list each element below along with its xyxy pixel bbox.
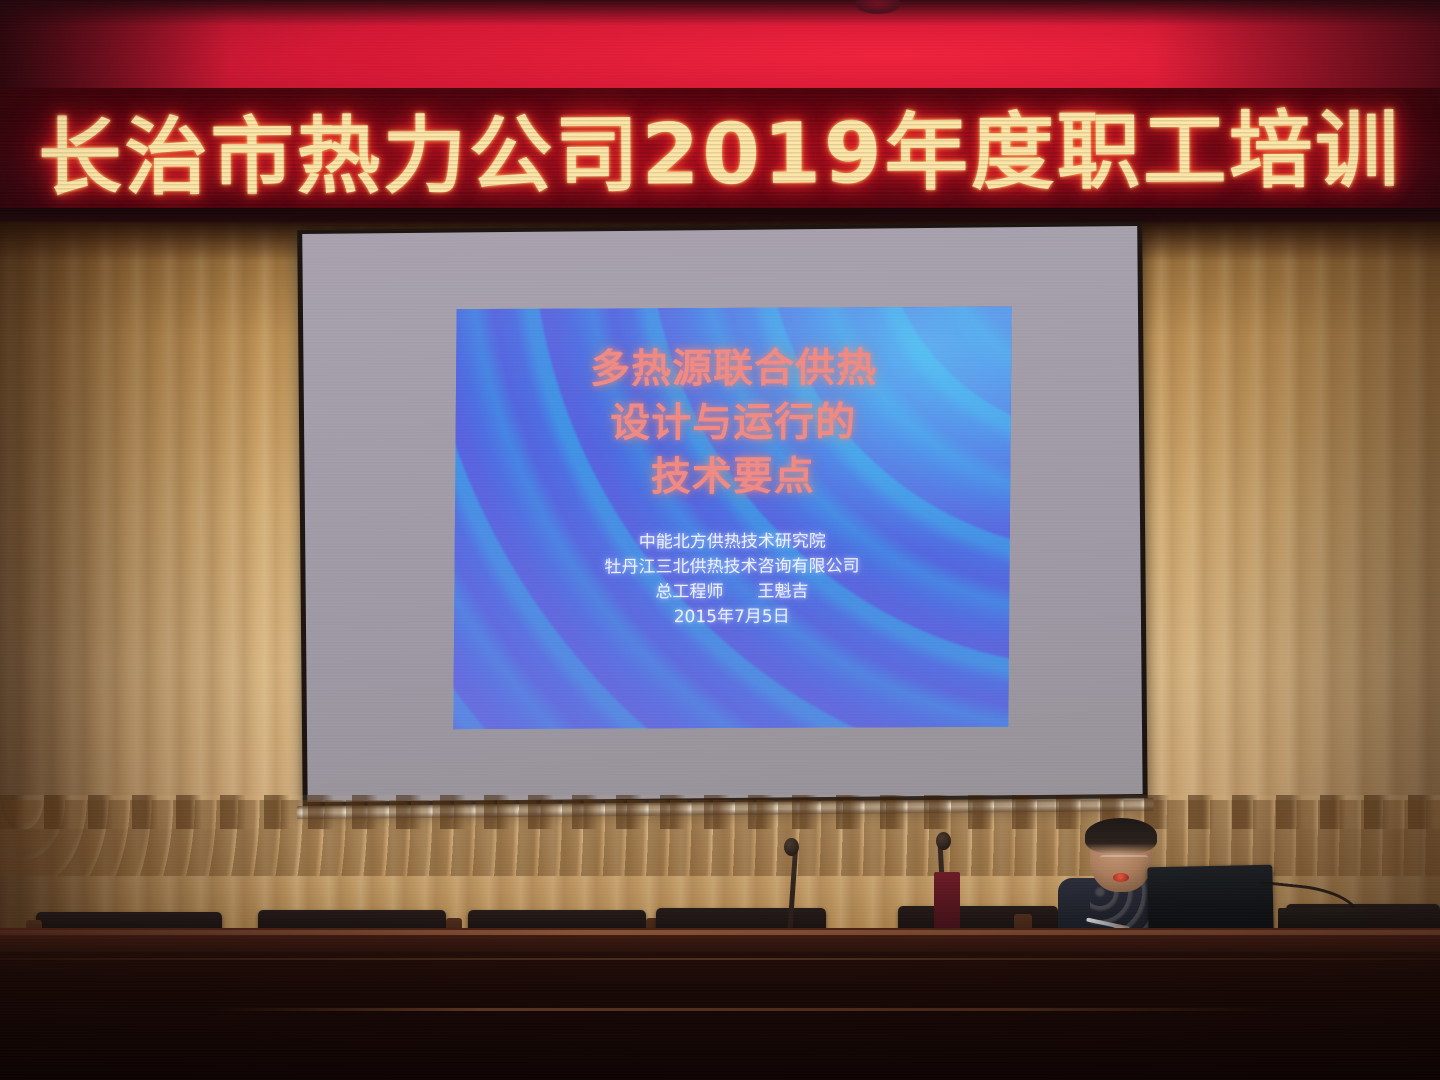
slide-date: 2015年7月5日 [454,604,1009,631]
projected-slide: 多热源联合供热 设计与运行的 技术要点 中能北方供热技术研究院 牡丹江三北供热技… [453,307,1011,729]
desk-name-plate [934,872,960,930]
ceiling-shadow [0,0,1440,26]
slide-title-line-1: 多热源联合供热 [456,341,1011,397]
slide-subtitle: 中能北方供热技术研究院 牡丹江三北供热技术咨询有限公司 总工程师王魁吉 2015… [454,529,1010,631]
slide-org-line-2: 牡丹江三北供热技术咨询有限公司 [454,554,1009,581]
microphone-head-icon [936,832,951,850]
glasses-icon [1100,855,1148,867]
head-table-edge-highlight [0,930,1440,935]
led-banner-scanlines [0,88,1440,222]
slide-presenter-role: 总工程师 [655,582,723,602]
head-table-trim-lower [210,1008,1280,1011]
speaker-mouth [1113,873,1129,882]
slide-presenter-line: 总工程师王魁吉 [454,579,1009,606]
slide-title: 多热源联合供热 设计与运行的 技术要点 [455,341,1011,505]
slide-title-line-2: 设计与运行的 [456,395,1011,451]
slide-org-line-1: 中能北方供热技术研究院 [455,529,1010,556]
speaker-hair [1085,818,1157,854]
projector-screen: 多热源联合供热 设计与运行的 技术要点 中能北方供热技术研究院 牡丹江三北供热技… [297,222,1148,820]
microphone-head-icon [784,838,799,856]
curtain-valance-scallops [0,800,1440,876]
head-table-front-panel [0,952,1440,1080]
slide-presenter-name: 王魁吉 [757,582,808,602]
laptop-screen [1147,865,1273,936]
slide-content: 多热源联合供热 设计与运行的 技术要点 中能北方供热技术研究院 牡丹江三北供热技… [453,307,1011,729]
conference-hall-photo: 长治市热力公司2019年度职工培训 多热源联合供热 设计与运行的 技术要点 中能… [0,0,1440,1080]
head-table-trim-upper [0,958,1440,960]
slide-title-line-3: 技术要点 [455,449,1010,505]
led-banner: 长治市热力公司2019年度职工培训 [0,88,1440,222]
